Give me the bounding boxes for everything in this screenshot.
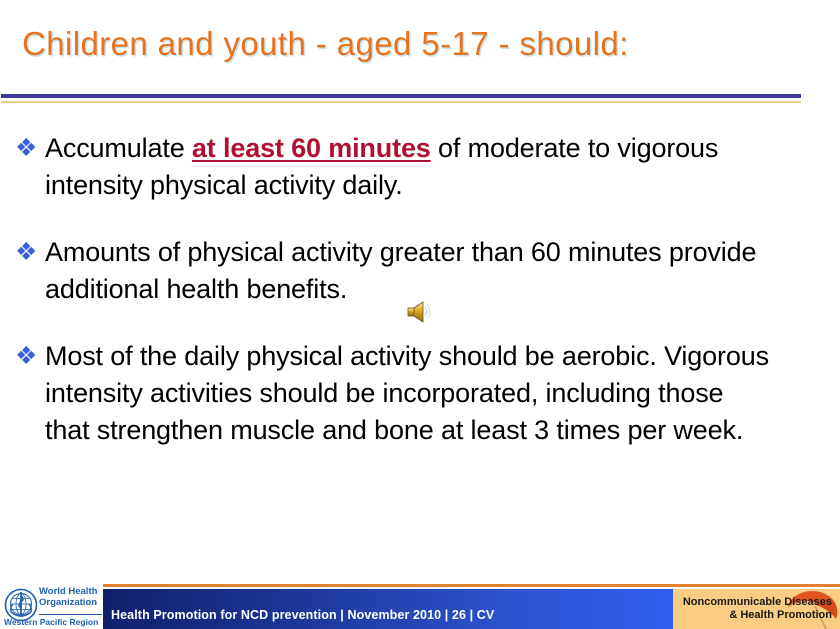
footer-department-badge: Noncommunicable Diseases & Health Promot… [673,589,840,629]
slide-canvas: Children and youth - aged 5-17 - should:… [0,0,840,629]
list-item: ❖ Most of the daily physical activity sh… [14,338,814,449]
who-wordmark: World Health Organization [39,587,102,608]
footer-info-text: Health Promotion for NCD prevention | No… [111,608,494,622]
who-wordmark-rule [39,614,102,615]
diamond-bullet-icon: ❖ [14,234,45,271]
diamond-bullet-icon: ❖ [14,338,45,375]
department-line-2: & Health Promotion [682,609,832,622]
footer-info-bar: Health Promotion for NCD prevention | No… [103,589,673,629]
bullet-2-text: Amounts of physical activity greater tha… [45,237,756,304]
divider-rule-gold [1,101,801,103]
bullet-1-before: Accumulate [45,133,192,163]
divider-rule-blue [1,94,801,98]
list-item-text: Most of the daily physical activity shou… [45,338,770,449]
who-logo: World Health Organization Western Pacifi… [4,586,102,628]
footer-orange-rule [103,584,840,587]
list-item-text: Amounts of physical activity greater tha… [45,234,785,308]
speaker-icon[interactable] [406,299,432,324]
page-title: Children and youth - aged 5-17 - should: [22,22,629,66]
bullet-1-emphasis: at least 60 minutes [192,133,431,163]
department-line-1: Noncommunicable Diseases [682,596,832,609]
slide-footer: Health Promotion for NCD prevention | No… [0,584,840,629]
footer-department-text: Noncommunicable Diseases & Health Promot… [682,596,832,622]
list-item-text: Accumulate at least 60 minutes of modera… [45,130,745,204]
title-area: Children and youth - aged 5-17 - should: [0,22,840,84]
who-line-1: World Health [39,587,102,598]
list-item: ❖ Amounts of physical activity greater t… [14,234,814,308]
bullet-3-text: Most of the daily physical activity shou… [45,341,769,445]
title-divider [1,94,801,106]
who-region-label: Western Pacific Region [4,617,104,627]
list-item: ❖ Accumulate at least 60 minutes of mode… [14,130,814,204]
diamond-bullet-icon: ❖ [14,130,45,167]
who-line-2: Organization [39,598,102,609]
